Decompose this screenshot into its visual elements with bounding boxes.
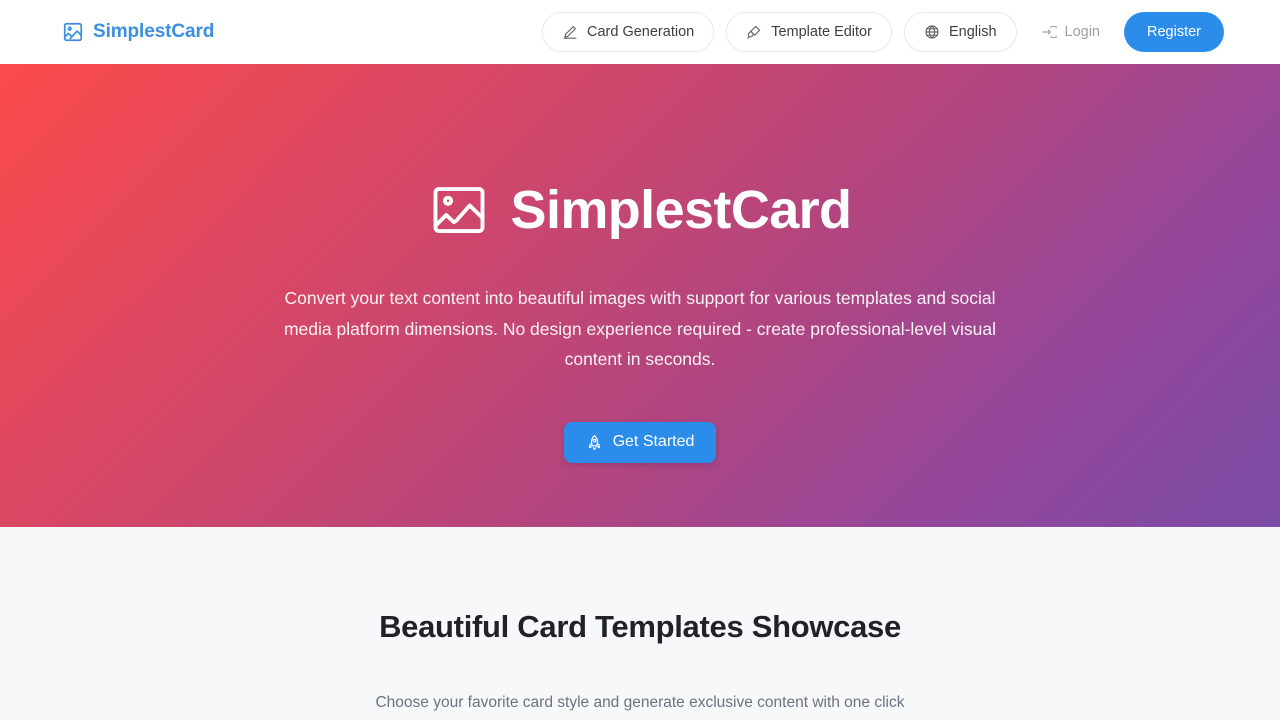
globe-icon	[924, 24, 940, 40]
nav-login-button[interactable]: Login	[1029, 12, 1112, 52]
header-nav: Card Generation Template Editor	[542, 12, 1224, 52]
showcase-subtitle: Choose your favorite card style and gene…	[375, 694, 904, 712]
nav-template-editor-button[interactable]: Template Editor	[726, 12, 892, 52]
login-icon	[1041, 24, 1057, 40]
brand-name: SimplestCard	[93, 21, 214, 43]
hero-section: SimplestCard Convert your text content i…	[0, 64, 1280, 527]
brand-logo[interactable]: SimplestCard	[62, 21, 214, 43]
brush-icon	[746, 24, 762, 40]
nav-card-generation-button[interactable]: Card Generation	[542, 12, 714, 52]
nav-login-label: Login	[1065, 24, 1100, 40]
image-icon	[429, 180, 489, 240]
site-header: SimplestCard Card Generation Template Ed…	[0, 0, 1280, 64]
nav-language-label: English	[949, 24, 997, 40]
hero-title: SimplestCard	[511, 183, 852, 237]
hero-description: Convert your text content into beautiful…	[264, 283, 1016, 375]
showcase-title: Beautiful Card Templates Showcase	[379, 609, 901, 645]
nav-card-generation-label: Card Generation	[587, 24, 694, 40]
nav-language-button[interactable]: English	[904, 12, 1017, 52]
pen-icon	[562, 24, 578, 40]
showcase-section: Beautiful Card Templates Showcase Choose…	[0, 527, 1280, 720]
nav-register-label: Register	[1147, 24, 1201, 40]
nav-register-button[interactable]: Register	[1124, 12, 1224, 52]
get-started-label: Get Started	[613, 433, 695, 451]
image-icon	[62, 21, 84, 43]
get-started-button[interactable]: Get Started	[564, 422, 717, 463]
rocket-icon	[586, 434, 603, 451]
hero-title-row: SimplestCard	[429, 180, 852, 240]
nav-template-editor-label: Template Editor	[771, 24, 872, 40]
